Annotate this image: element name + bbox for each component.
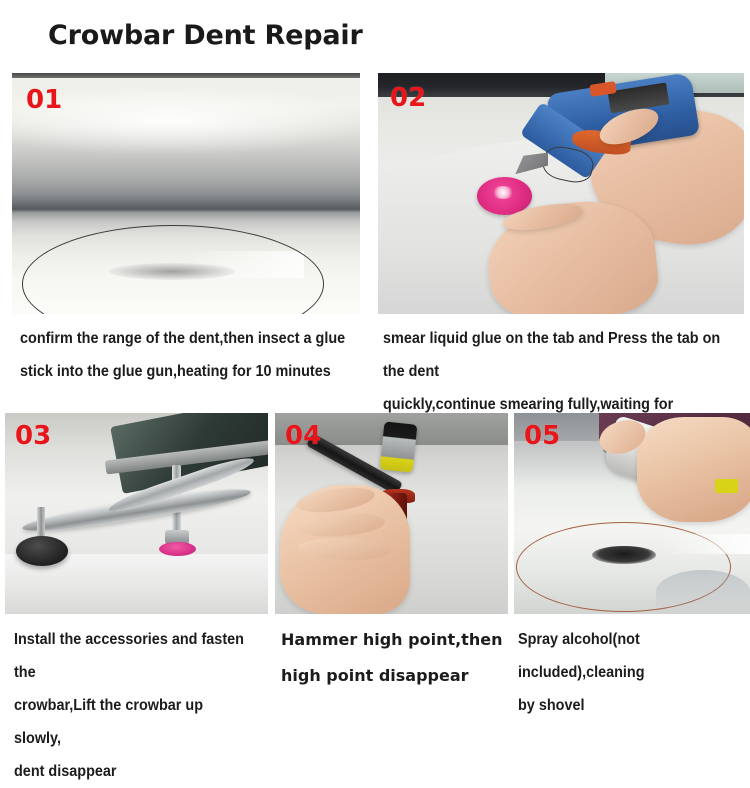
surface-reflection	[656, 570, 750, 614]
panel-top-edge	[12, 73, 360, 78]
step-image-01: 01	[12, 73, 360, 314]
step-image-04: 04	[275, 413, 508, 614]
hand	[637, 417, 750, 522]
step-image-02: 02	[378, 73, 744, 314]
step-number-04: 04	[285, 421, 321, 451]
page-title: Crowbar Dent Repair	[48, 20, 363, 51]
step-caption-04: Hammer high point,then high point disapp…	[281, 622, 509, 694]
infographic-page: Crowbar Dent Repair 01 confirm the range…	[0, 0, 750, 750]
glue-residue	[592, 546, 656, 564]
step-number-03: 03	[15, 421, 51, 451]
surface-highlight	[660, 534, 750, 554]
step-number-02: 02	[390, 83, 426, 113]
step-number-01: 01	[26, 85, 62, 115]
step-caption-05: Spray alcohol(not included),cleaning by …	[518, 623, 732, 722]
hammer-head	[380, 421, 417, 472]
step-caption-03: Install the accessories and fasten the c…	[14, 623, 252, 788]
bottle-label	[715, 479, 739, 493]
step-number-05: 05	[524, 421, 560, 451]
crowbar-rubber-foot	[16, 536, 69, 566]
step-image-05: 05	[514, 413, 750, 614]
pink-pulling-tab	[159, 542, 196, 556]
surface-highlight	[12, 87, 360, 154]
step-caption-01: confirm the range of the dent,then insec…	[20, 322, 346, 388]
step-image-03: 03	[5, 413, 268, 614]
